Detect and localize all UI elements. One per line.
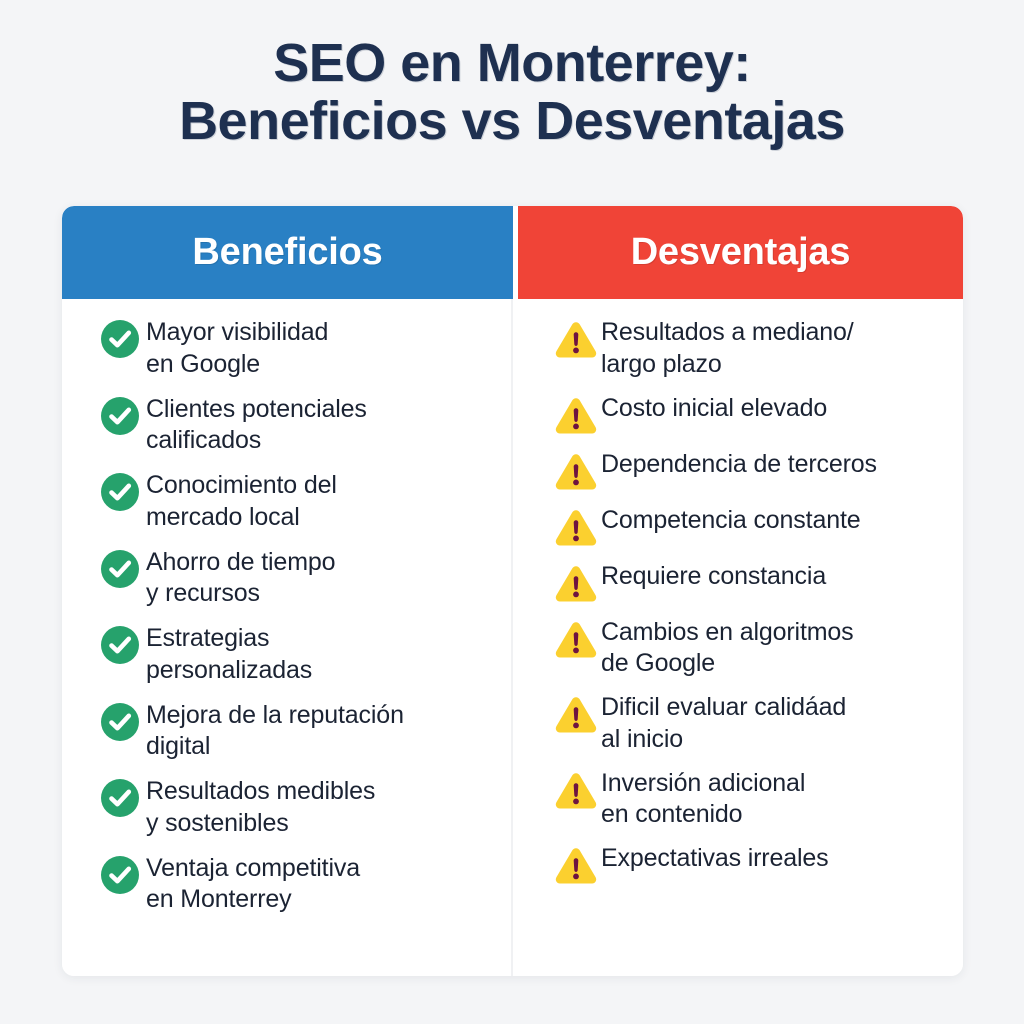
list-item: Cambios en algoritmos de Google [553, 615, 949, 681]
warning-triangle-icon [553, 317, 599, 361]
list-item: Ventaja competitiva en Monterrey [98, 851, 497, 917]
list-item: Ahorro de tiempo y recursos [98, 545, 497, 611]
list-item: Inversión adicional en contenido [553, 766, 949, 832]
list-item-label: Competencia constante [599, 503, 861, 537]
list-item-label: Expectativas irreales [599, 841, 829, 875]
comparison-card: Beneficios Desventajas Mayor visibilidad… [62, 206, 963, 976]
check-circle-icon [98, 394, 142, 438]
page-title-line-1: SEO en Monterrey: [0, 34, 1024, 92]
list-item: Dependencia de terceros [553, 447, 949, 493]
column-header-benefits-label: Beneficios [192, 231, 382, 274]
page-title-line-2: Beneficios vs Desventajas [0, 92, 1024, 150]
drawbacks-list: Resultados a mediano/ largo plazoCosto i… [553, 315, 949, 887]
list-item-label: Cambios en algoritmos de Google [599, 615, 854, 681]
check-circle-icon [98, 853, 142, 897]
list-item: Resultados medibles y sostenibles [98, 774, 497, 840]
list-item-label: Ventaja competitiva en Monterrey [142, 851, 360, 917]
list-item: Costo inicial elevado [553, 391, 949, 437]
check-circle-icon [98, 547, 142, 591]
list-item-label: Mayor visibilidad en Google [142, 315, 328, 381]
check-circle-icon [98, 776, 142, 820]
list-item: Resultados a mediano/ largo plazo [553, 315, 949, 381]
warning-triangle-icon [553, 617, 599, 661]
list-item-label: Costo inicial elevado [599, 391, 827, 425]
warning-triangle-icon [553, 449, 599, 493]
check-circle-icon [98, 470, 142, 514]
list-item-label: Ahorro de tiempo y recursos [142, 545, 335, 611]
list-item: Competencia constante [553, 503, 949, 549]
list-item-label: Requiere constancia [599, 559, 826, 593]
page-title: SEO en Monterrey: Beneficios vs Desventa… [0, 34, 1024, 151]
list-item-label: Conocimiento del mercado local [142, 468, 337, 534]
column-header-drawbacks: Desventajas [518, 206, 963, 299]
list-item-label: Resultados medibles y sostenibles [142, 774, 375, 840]
list-item-label: Inversión adicional en contenido [599, 766, 805, 832]
column-headers-row: Beneficios Desventajas [62, 206, 963, 299]
warning-triangle-icon [553, 768, 599, 812]
list-item-label: Estrategias personalizadas [142, 621, 312, 687]
check-circle-icon [98, 317, 142, 361]
list-item: Mejora de la reputación digital [98, 698, 497, 764]
warning-triangle-icon [553, 843, 599, 887]
list-item: Mayor visibilidad en Google [98, 315, 497, 381]
list-item-label: Dificil evaluar calidáad al inicio [599, 690, 846, 756]
list-item-label: Resultados a mediano/ largo plazo [599, 315, 854, 381]
list-item: Requiere constancia [553, 559, 949, 605]
list-item-label: Dependencia de terceros [599, 447, 877, 481]
warning-triangle-icon [553, 505, 599, 549]
columns-body: Mayor visibilidad en GoogleClientes pote… [62, 299, 963, 976]
drawbacks-column: Resultados a mediano/ largo plazoCosto i… [513, 299, 963, 976]
column-header-benefits: Beneficios [62, 206, 513, 299]
check-circle-icon [98, 700, 142, 744]
list-item: Expectativas irreales [553, 841, 949, 887]
list-item: Estrategias personalizadas [98, 621, 497, 687]
warning-triangle-icon [553, 692, 599, 736]
list-item-label: Mejora de la reputación digital [142, 698, 404, 764]
warning-triangle-icon [553, 561, 599, 605]
list-item: Clientes potenciales calificados [98, 392, 497, 458]
check-circle-icon [98, 623, 142, 667]
benefits-column: Mayor visibilidad en GoogleClientes pote… [62, 299, 513, 976]
benefits-list: Mayor visibilidad en GoogleClientes pote… [98, 315, 497, 916]
column-header-drawbacks-label: Desventajas [631, 231, 851, 274]
list-item: Conocimiento del mercado local [98, 468, 497, 534]
list-item-label: Clientes potenciales calificados [142, 392, 367, 458]
warning-triangle-icon [553, 393, 599, 437]
list-item: Dificil evaluar calidáad al inicio [553, 690, 949, 756]
